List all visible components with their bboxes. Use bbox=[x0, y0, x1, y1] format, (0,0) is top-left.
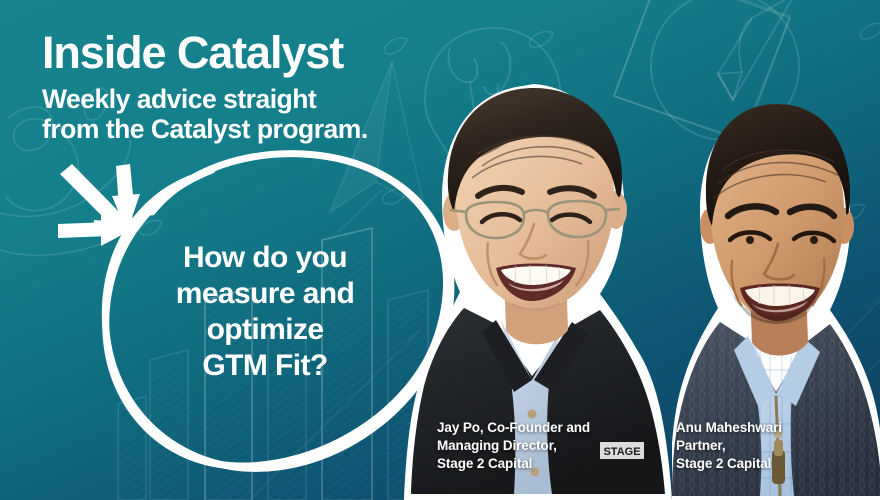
speaker-caption-anu: Anu Maheshwari Partner, Stage 2 Capital bbox=[676, 419, 782, 473]
promo-graphic: Inside Catalyst Weekly advice straight f… bbox=[0, 0, 880, 500]
circle-annotation-icon bbox=[105, 154, 451, 469]
speaker-caption-jay: Jay Po, Co-Founder and Managing Director… bbox=[437, 419, 590, 473]
vest-logo-text: STAGE bbox=[603, 446, 640, 458]
